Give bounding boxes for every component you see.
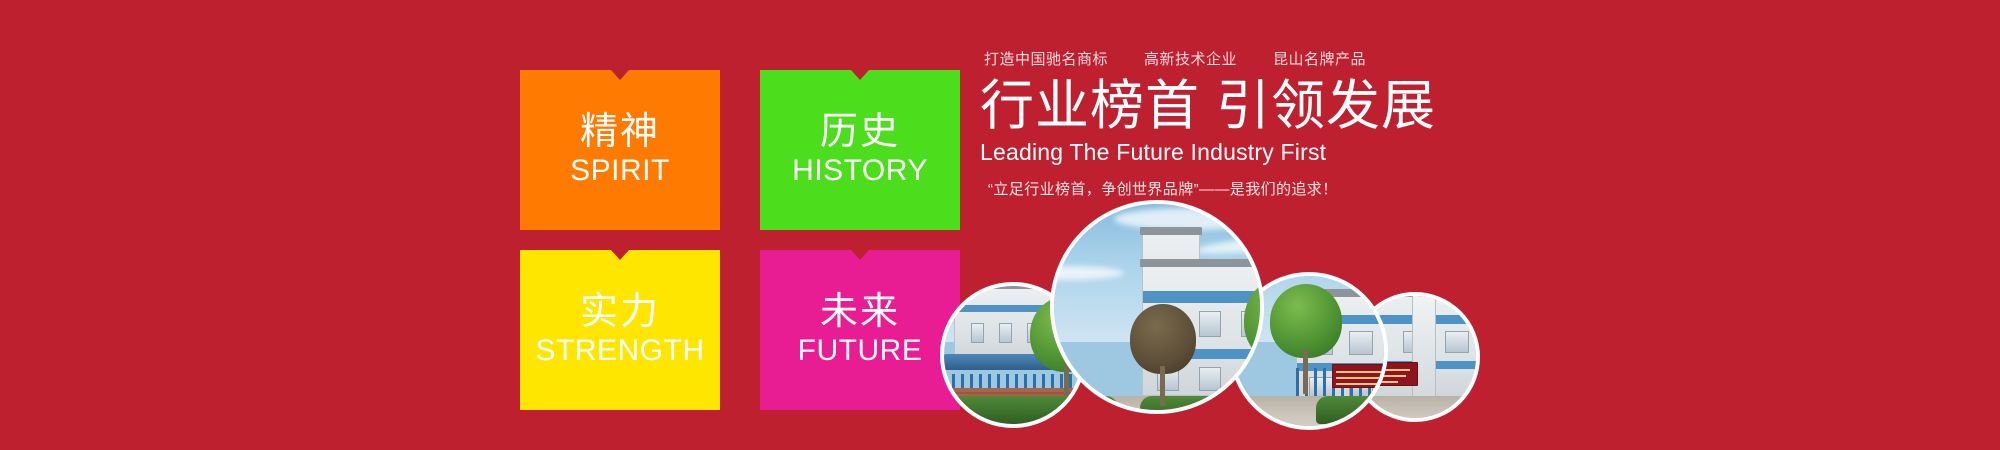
- tree: [1270, 284, 1342, 400]
- factory-photo: [1050, 200, 1264, 414]
- roof-cap: [1140, 227, 1202, 235]
- tile-history-en: HISTORY: [792, 154, 928, 189]
- window: [1199, 367, 1221, 391]
- tile-history[interactable]: 历史 HISTORY: [760, 70, 960, 230]
- tile-spirit[interactable]: 精神 SPIRIT: [520, 70, 720, 230]
- page-title: 行业榜首 引领发展: [980, 78, 1500, 134]
- window: [1445, 331, 1469, 353]
- roof-cap: [1140, 259, 1264, 267]
- tile-strength[interactable]: 实力 STRENGTH: [520, 250, 720, 410]
- tile-future-en: FUTURE: [798, 334, 923, 369]
- hedge: [1316, 396, 1388, 424]
- tagline-hightech: 高新技术企业: [1144, 52, 1237, 67]
- tile-strength-en: STRENGTH: [536, 334, 705, 369]
- tile-strength-cn: 实力: [580, 291, 660, 334]
- tagline-row: 打造中国驰名商标 高新技术企业 昆山名牌产品: [980, 52, 1500, 67]
- tile-future[interactable]: 未来 FUTURE: [760, 250, 960, 410]
- value-tile-grid: 精神 SPIRIT 历史 HISTORY 实力 STRENGTH 未来 FUTU…: [520, 70, 960, 380]
- cloud-wisp-icon: [1050, 266, 1124, 280]
- headline-copy-block: 打造中国驰名商标 高新技术企业 昆山名牌产品 行业榜首 引领发展 Leading…: [980, 52, 1500, 199]
- tile-history-cn: 历史: [820, 111, 900, 154]
- tile-future-cn: 未来: [820, 291, 900, 334]
- tagline-trademark: 打造中国驰名商标: [984, 52, 1108, 67]
- headline-subtitle-english: Leading The Future Industry First: [980, 140, 1500, 165]
- tree: [1130, 304, 1196, 404]
- window: [1199, 311, 1221, 337]
- window: [999, 323, 1012, 343]
- tile-spirit-cn: 精神: [580, 111, 660, 154]
- collage-bubble-center: [1050, 200, 1264, 414]
- factory-photo-cloud-collage: [940, 188, 1480, 450]
- window: [971, 323, 984, 343]
- tile-spirit-en: SPIRIT: [570, 154, 670, 189]
- tagline-famous-brand: 昆山名牌产品: [1273, 52, 1366, 67]
- window: [1349, 331, 1373, 355]
- promo-banner: 精神 SPIRIT 历史 HISTORY 实力 STRENGTH 未来 FUTU…: [0, 0, 2000, 450]
